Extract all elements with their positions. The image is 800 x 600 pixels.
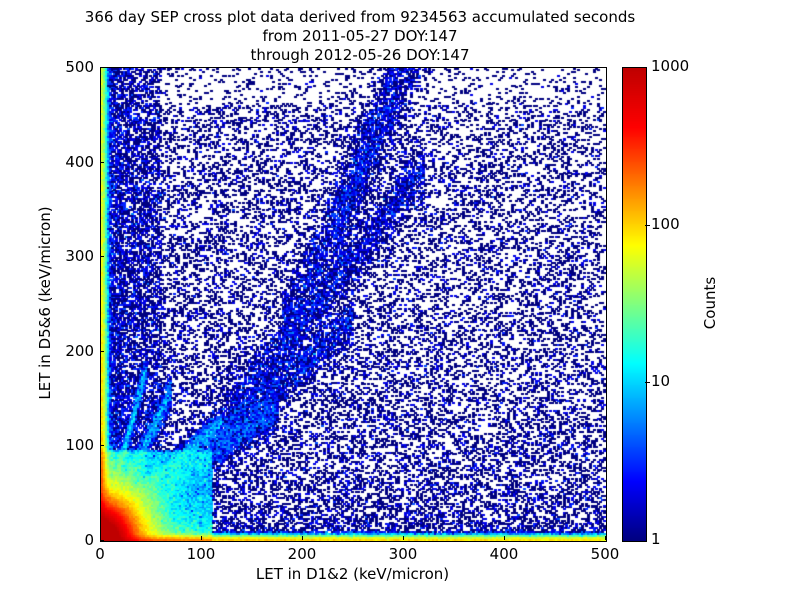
x-tick-label: 100 [171,545,231,563]
colorbar-tick-label: 1000 [651,57,689,75]
x-axis-label: LET in D1&2 (keV/micron) [100,565,605,583]
colorbar-label: Counts [701,223,719,383]
title-line-3: through 2012-05-26 DOY:147 [0,46,720,65]
y-tick-mark [100,540,104,541]
y-tick-mark [100,256,104,257]
title-line-2: from 2011-05-27 DOY:147 [0,27,720,46]
y-tick-mark [100,67,104,68]
x-tick-mark [605,536,606,540]
y-tick-label: 500 [34,58,94,76]
y-axis-label: LET in D5&6 (keV/micron) [36,133,54,473]
colorbar-gradient [623,68,646,541]
y-tick-mark [100,351,104,352]
x-tick-mark [504,536,505,540]
y-tick-mark [100,162,104,163]
x-tick-mark [201,536,202,540]
title-line-1: 366 day SEP cross plot data derived from… [0,8,720,27]
colorbar-tick-label: 100 [651,215,680,233]
plot-title: 366 day SEP cross plot data derived from… [0,8,720,65]
colorbar [622,67,647,542]
x-tick-mark [302,536,303,540]
figure-canvas: 366 day SEP cross plot data derived from… [0,0,800,600]
colorbar-tick-label: 10 [651,372,670,390]
x-tick-label: 400 [474,545,534,563]
plot-area [100,67,607,542]
colorbar-tick-mark [645,225,650,226]
y-tick-label: 0 [34,531,94,549]
x-tick-label: 300 [373,545,433,563]
colorbar-tick-mark [645,382,650,383]
x-tick-label: 200 [272,545,332,563]
y-tick-mark [100,445,104,446]
scatter-heatmap [101,68,606,541]
x-tick-mark [403,536,404,540]
colorbar-tick-label: 1 [651,530,661,548]
x-tick-label: 500 [575,545,635,563]
